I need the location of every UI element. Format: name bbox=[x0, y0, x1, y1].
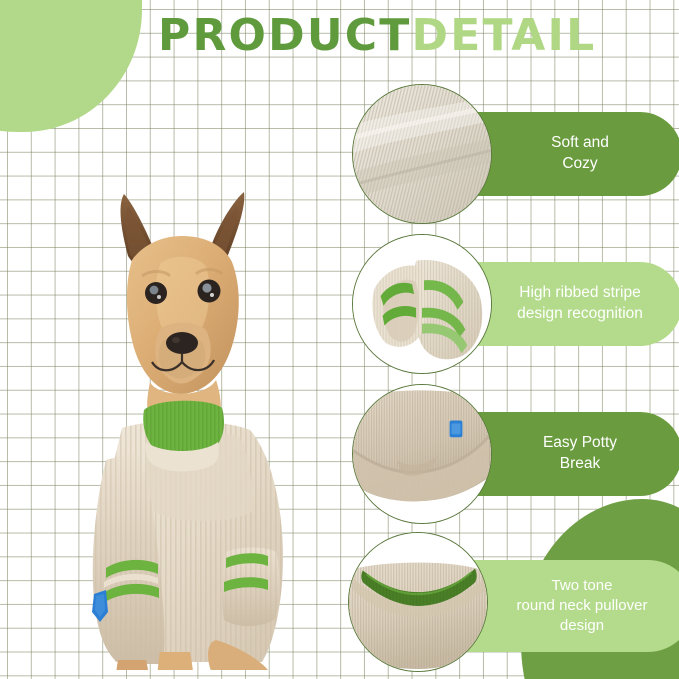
feature-label-line: round neck pullover bbox=[517, 596, 648, 616]
feature-label-line: Two tone bbox=[517, 576, 648, 596]
feature-label-line: Break bbox=[543, 454, 617, 475]
page-title: PRODUCTDETAIL bbox=[158, 14, 596, 58]
feature-image-striped-collar bbox=[352, 234, 492, 374]
page-title-part-one: PRODUCT bbox=[158, 10, 412, 61]
feature-image-potty-opening bbox=[352, 384, 492, 524]
feature-label-line: Soft and bbox=[551, 133, 609, 154]
product-photo-dog bbox=[10, 160, 340, 670]
product-detail-poster: PRODUCTDETAIL bbox=[0, 0, 679, 679]
dog-front-leg-right bbox=[157, 652, 194, 670]
feature-label-line: design bbox=[517, 616, 648, 636]
feature-label-line: High ribbed stripe bbox=[517, 283, 643, 304]
feature-label-line: Cozy bbox=[551, 154, 609, 175]
feature-image-ribbed-knit-fabric bbox=[352, 84, 492, 224]
dog-nose bbox=[166, 332, 198, 354]
page-title-part-two: DETAIL bbox=[412, 10, 597, 61]
feature-image-round-neck-collar bbox=[348, 532, 488, 672]
feature-label-line: Easy Potty bbox=[543, 433, 617, 454]
feature-label-line: design recognition bbox=[517, 304, 643, 325]
dog-front-leg-left bbox=[115, 660, 150, 670]
